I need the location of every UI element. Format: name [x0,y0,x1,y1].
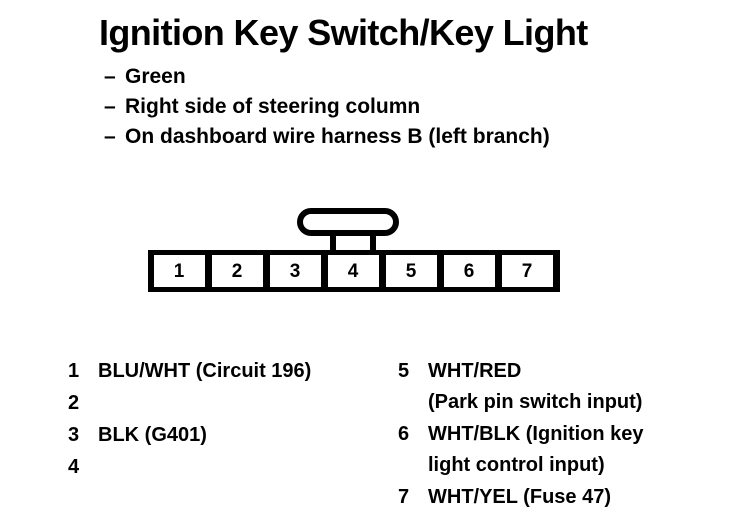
pin-description: BLK (G401) [98,420,207,451]
pin-number: 3 [68,420,98,451]
pin-description-line: BLK (G401) [98,420,207,451]
pin-legend-row: 1 BLU/WHT (Circuit 196) [68,356,388,387]
pin-legend-row: 7 WHT/YEL (Fuse 47) [398,482,728,513]
cavity-number: 2 [232,261,243,282]
dash-bullet-icon: – [104,62,125,92]
cavity-number: 5 [406,261,417,282]
pin-legend-row: 4 [68,452,388,483]
pin-number: 6 [398,419,428,450]
pin-legend-row: 3 BLK (G401) [68,420,388,451]
pin-number: 7 [398,482,428,513]
pin-legend-right-column: 5 WHT/RED (Park pin switch input) 6 WHT/… [398,356,728,514]
pin-description-line: WHT/YEL (Fuse 47) [428,482,611,513]
pin-number: 1 [68,356,98,387]
pin-description-line: BLU/WHT (Circuit 196) [98,356,311,387]
pin-number: 2 [68,388,98,419]
pin-legend-row: 2 [68,388,388,419]
cavity-number: 1 [174,261,185,282]
pin-description: WHT/BLK (Ignition key light control inpu… [428,419,644,481]
cavity-number: 6 [464,261,475,282]
pin-legend-row: 5 WHT/RED (Park pin switch input) [398,356,728,418]
page-title: Ignition Key Switch/Key Light [99,11,588,55]
connector-diagram: 1 2 3 4 5 6 7 [140,200,580,305]
pin-legend: 1 BLU/WHT (Circuit 196) 2 3 BLK (G401) 4… [0,356,736,516]
cavity-number: 4 [348,261,359,282]
latch-tab-icon [300,211,396,253]
pin-description-line: WHT/RED [428,356,642,387]
pin-description-line: (Park pin switch input) [428,387,642,418]
pin-description: BLU/WHT (Circuit 196) [98,356,311,387]
spec-item-label: On dashboard wire harness B (left branch… [125,122,550,152]
pin-legend-left-column: 1 BLU/WHT (Circuit 196) 2 3 BLK (G401) 4 [68,356,388,484]
spec-item-label: Right side of steering column [125,92,420,122]
pin-number: 5 [398,356,428,387]
cavity-number: 3 [290,261,301,282]
pin-description-line: WHT/BLK (Ignition key [428,419,644,450]
spec-item: – Green [104,62,664,92]
pin-legend-row: 6 WHT/BLK (Ignition key light control in… [398,419,728,481]
pin-description: WHT/YEL (Fuse 47) [428,482,611,513]
connector-svg: 1 2 3 4 5 6 7 [140,200,580,305]
spec-item: – Right side of steering column [104,92,664,122]
dash-bullet-icon: – [104,122,125,152]
spec-item-label: Green [125,62,186,92]
pin-number: 4 [68,452,98,483]
pin-description-line: light control input) [428,450,644,481]
spec-item: – On dashboard wire harness B (left bran… [104,122,664,152]
spec-list: – Green – Right side of steering column … [104,62,664,152]
pin-description: WHT/RED (Park pin switch input) [428,356,642,418]
dash-bullet-icon: – [104,92,125,122]
cavity-number: 7 [522,261,533,282]
